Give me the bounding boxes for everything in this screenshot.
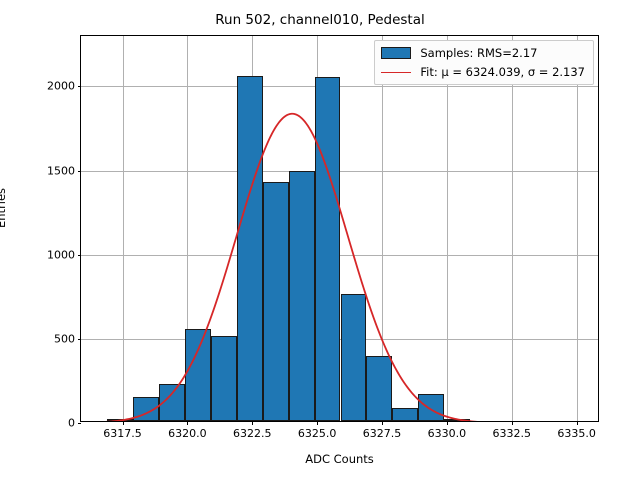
- y-tick-label: 2000: [47, 80, 75, 93]
- x-tick-mark: [382, 421, 383, 425]
- y-tick-label: 1000: [47, 248, 75, 261]
- x-tick-mark: [512, 421, 513, 425]
- fit-path: [81, 114, 598, 421]
- y-tick-label: 0: [68, 417, 75, 430]
- y-tick-mark: [78, 423, 82, 424]
- x-tick-mark: [123, 421, 124, 425]
- chart-title: Run 502, channel010, Pedestal: [0, 12, 640, 28]
- legend-label-samples: Samples: RMS=2.17: [420, 46, 537, 60]
- x-tick-label: 6317.5: [103, 427, 142, 440]
- y-axis-label: Entries: [0, 188, 8, 228]
- x-tick-label: 6332.5: [493, 427, 532, 440]
- x-tick-mark: [577, 421, 578, 425]
- y-tick-mark: [78, 86, 82, 87]
- x-tick-label: 6325.0: [298, 427, 337, 440]
- x-tick-mark: [447, 421, 448, 425]
- x-tick-label: 6322.5: [233, 427, 272, 440]
- x-tick-label: 6330.0: [428, 427, 467, 440]
- plot-axes: 6317.56320.06322.56325.06327.56330.06332…: [80, 35, 599, 422]
- figure: Run 502, channel010, Pedestal 6317.56320…: [0, 0, 640, 480]
- y-tick-label: 500: [54, 332, 75, 345]
- legend-item-fit: Fit: μ = 6324.039, σ = 2.137: [381, 65, 585, 79]
- x-tick-mark: [187, 421, 188, 425]
- x-tick-mark: [252, 421, 253, 425]
- x-tick-label: 6327.5: [363, 427, 402, 440]
- x-tick-label: 6335.0: [557, 427, 596, 440]
- x-tick-label: 6320.0: [168, 427, 207, 440]
- y-tick-mark: [78, 255, 82, 256]
- y-tick-label: 1500: [47, 164, 75, 177]
- y-tick-mark: [78, 171, 82, 172]
- legend-item-samples: Samples: RMS=2.17: [381, 46, 585, 60]
- gaussian-fit-curve: [81, 36, 598, 421]
- plot-area: [81, 36, 598, 421]
- legend-bar-swatch-icon: [381, 47, 411, 59]
- chart-legend: Samples: RMS=2.17 Fit: μ = 6324.039, σ =…: [374, 40, 594, 85]
- legend-label-fit: Fit: μ = 6324.039, σ = 2.137: [420, 65, 585, 79]
- legend-line-swatch-icon: [381, 72, 411, 73]
- x-axis-label: ADC Counts: [80, 452, 599, 466]
- y-tick-mark: [78, 339, 82, 340]
- x-tick-mark: [317, 421, 318, 425]
